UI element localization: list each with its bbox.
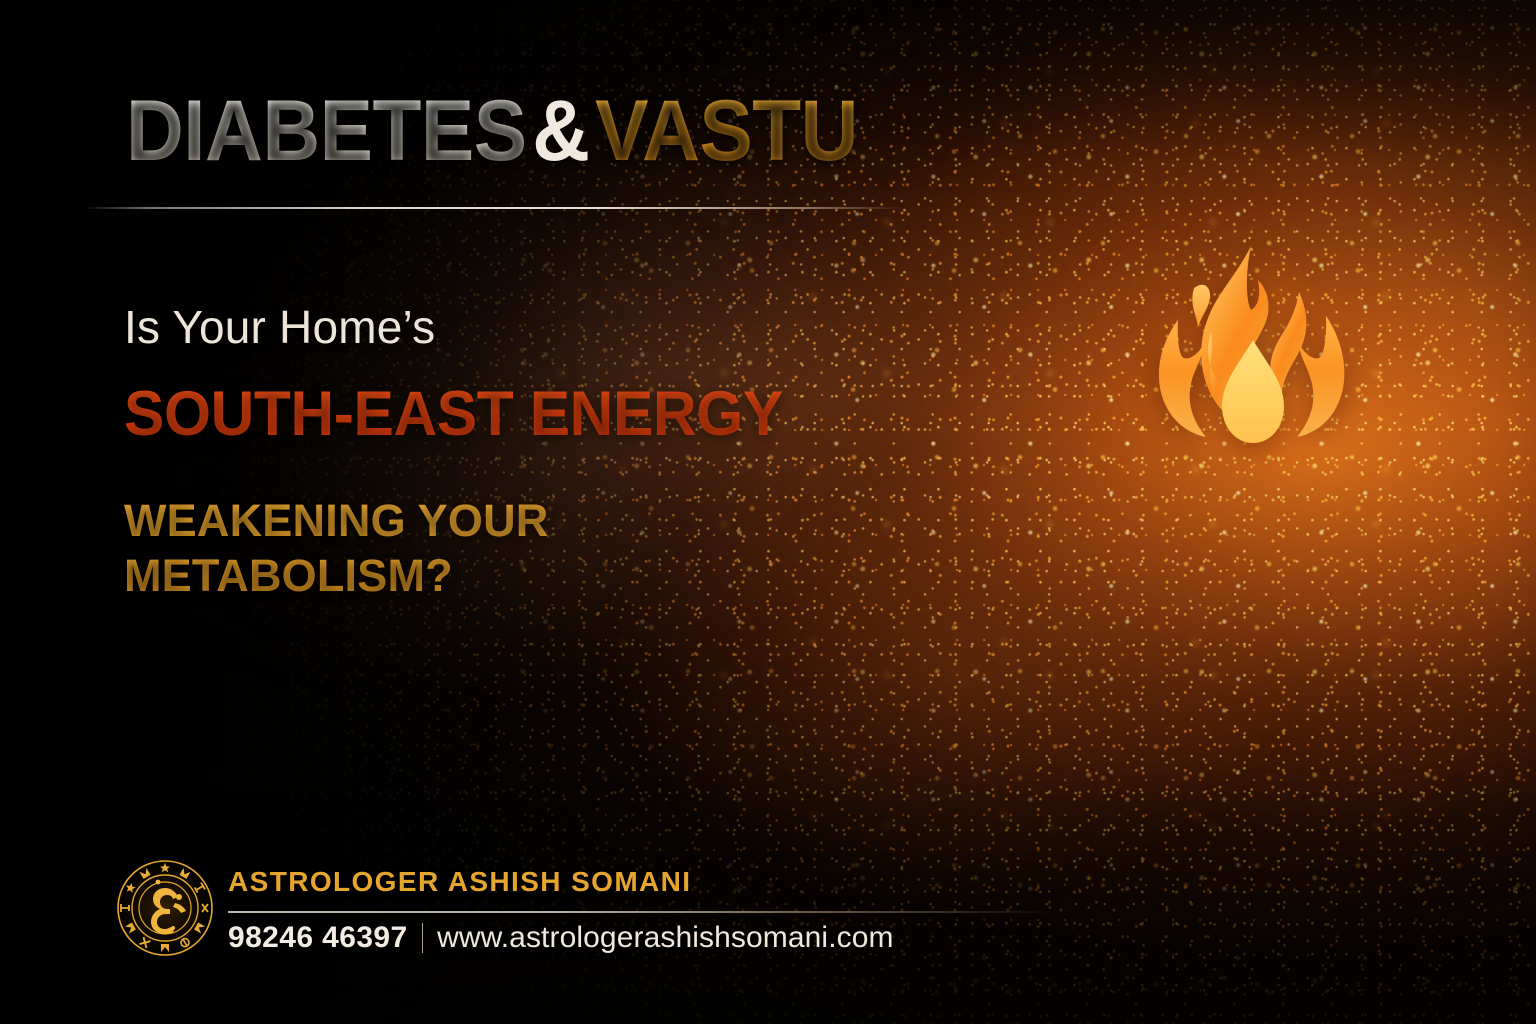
phone-number[interactable]: 98246 46397 [228,921,408,955]
contact-separator [422,923,424,953]
flame-icon [1148,236,1358,472]
footer-divider [228,911,1054,913]
lead-line: Is Your Home’s [124,300,435,354]
poster-content: DIABETES&VASTU Is Your Home’s SOUTH-EAST… [0,0,1536,1024]
emphasis-south-east-energy: SOUTH-EAST ENERGY [124,383,783,446]
website-url[interactable]: www.astrologerashishsomani.com [437,921,894,955]
emphasis-weakening-metabolism: WEAKENING YOUR METABOLISM? [124,494,549,604]
emphasis-gold-line-2: METABOLISM? [124,549,549,604]
emphasis-gold-line-1: WEAKENING YOUR [124,494,549,549]
contact-bar: 98246 46397 www.astrologerashishsomani.c… [228,921,894,955]
title-ampersand: & [527,83,595,179]
zodiac-wheel-logo-icon [113,856,217,960]
brand-name: ASTROLOGER ASHISH SOMANI [228,866,691,898]
page-title: DIABETES&VASTU [126,88,858,174]
title-word-vastu: VASTU [595,83,858,179]
poster-canvas: DIABETES&VASTU Is Your Home’s SOUTH-EAST… [0,0,1536,1024]
title-word-diabetes: DIABETES [126,83,527,179]
title-divider [84,207,904,209]
